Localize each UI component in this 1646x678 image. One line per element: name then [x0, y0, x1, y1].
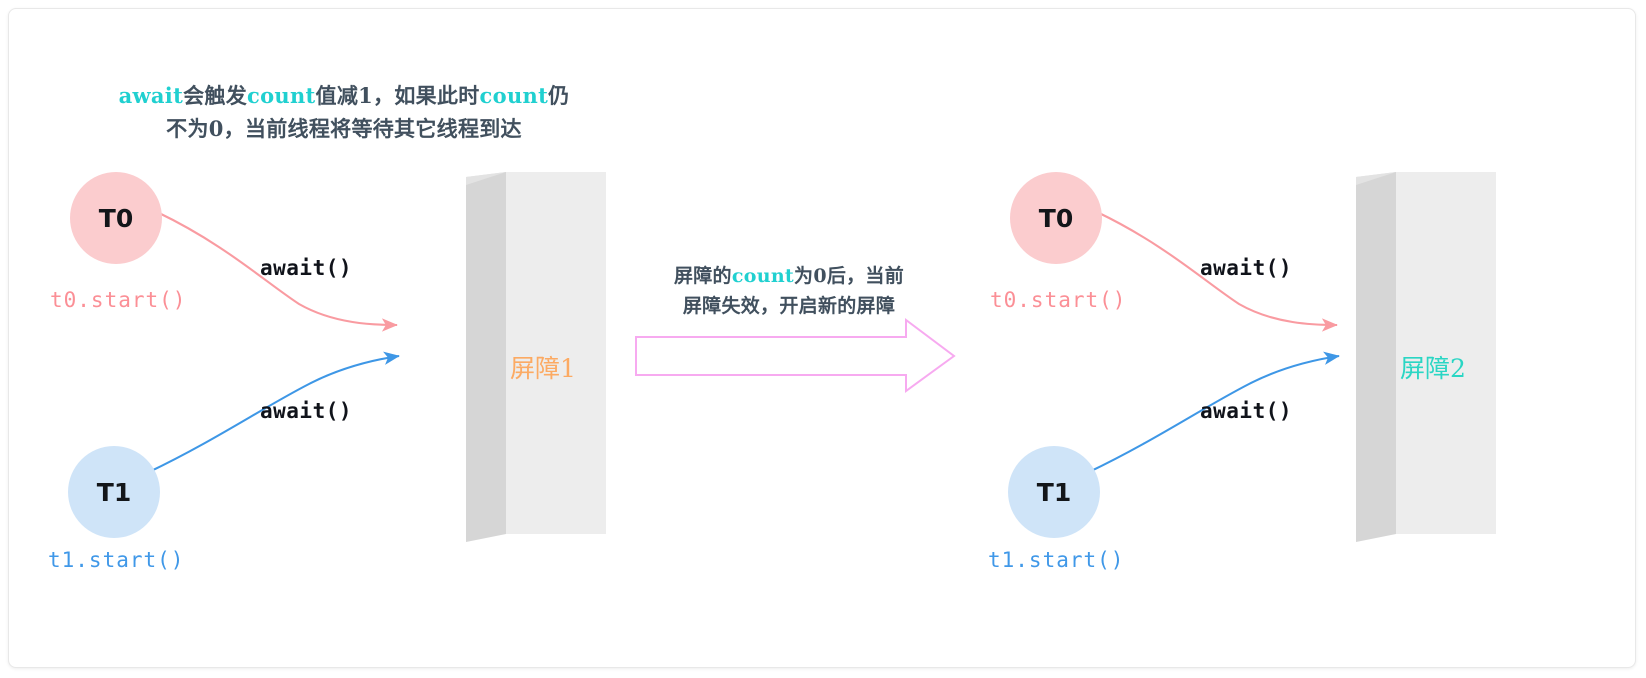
thread-circle-t1-right[interactable]: T1: [1008, 446, 1100, 538]
await-label-t0-right: await(): [1200, 256, 1292, 280]
note-text-2: 值减1，如果此时: [316, 83, 480, 108]
start-label-t1-left: t1.start(): [48, 548, 184, 572]
note-text-1: 会触发: [183, 83, 247, 108]
thread-circle-t0-left[interactable]: T0: [70, 172, 162, 264]
start-label-t0-left: t0.start(): [50, 288, 186, 312]
await-label-t0-left: await(): [260, 256, 352, 280]
note-barrier-reset-description: 屏障的count为0后，当前 屏障失效，开启新的屏障: [624, 261, 954, 321]
transition-block-arrow: [636, 320, 954, 391]
note-barrier-line-1: 屏障的count为0后，当前: [624, 261, 954, 291]
note-barrier-line-2: 屏障失效，开启新的屏障: [624, 291, 954, 321]
note-await-line-1: await会触发count值减1，如果此时count仍: [64, 79, 624, 112]
note-await-line-2: 不为0，当前线程将等待其它线程到达: [64, 112, 624, 145]
thread-label-t0-right: T0: [1039, 204, 1073, 233]
note-await-description: await会触发count值减1，如果此时count仍 不为0，当前线程将等待其…: [64, 79, 624, 145]
start-label-t1-right: t1.start(): [988, 548, 1124, 572]
thread-label-t1-left: T1: [97, 478, 131, 507]
note-mid-keyword-count: count: [732, 265, 794, 287]
note-keyword-await: await: [119, 83, 183, 108]
note-mid-text-2: 为0后，当前: [794, 265, 904, 287]
note-mid-text-1: 屏障的: [674, 265, 732, 287]
barrier-2-label: 屏障2: [1400, 349, 1466, 385]
await-label-t1-left: await(): [260, 399, 352, 423]
note-keyword-count-2: count: [480, 83, 549, 108]
await-label-t1-right: await(): [1200, 399, 1292, 423]
note-text-3: 仍: [548, 83, 569, 108]
diagram-canvas: await会触发count值减1，如果此时count仍 不为0，当前线程将等待其…: [8, 8, 1636, 668]
thread-circle-t1-left[interactable]: T1: [68, 446, 160, 538]
thread-label-t0-left: T0: [99, 204, 133, 233]
note-keyword-count-1: count: [247, 83, 316, 108]
thread-circle-t0-right[interactable]: T0: [1010, 172, 1102, 264]
start-label-t0-right: t0.start(): [990, 288, 1126, 312]
thread-label-t1-right: T1: [1037, 478, 1071, 507]
barrier-1-label: 屏障1: [510, 349, 576, 385]
